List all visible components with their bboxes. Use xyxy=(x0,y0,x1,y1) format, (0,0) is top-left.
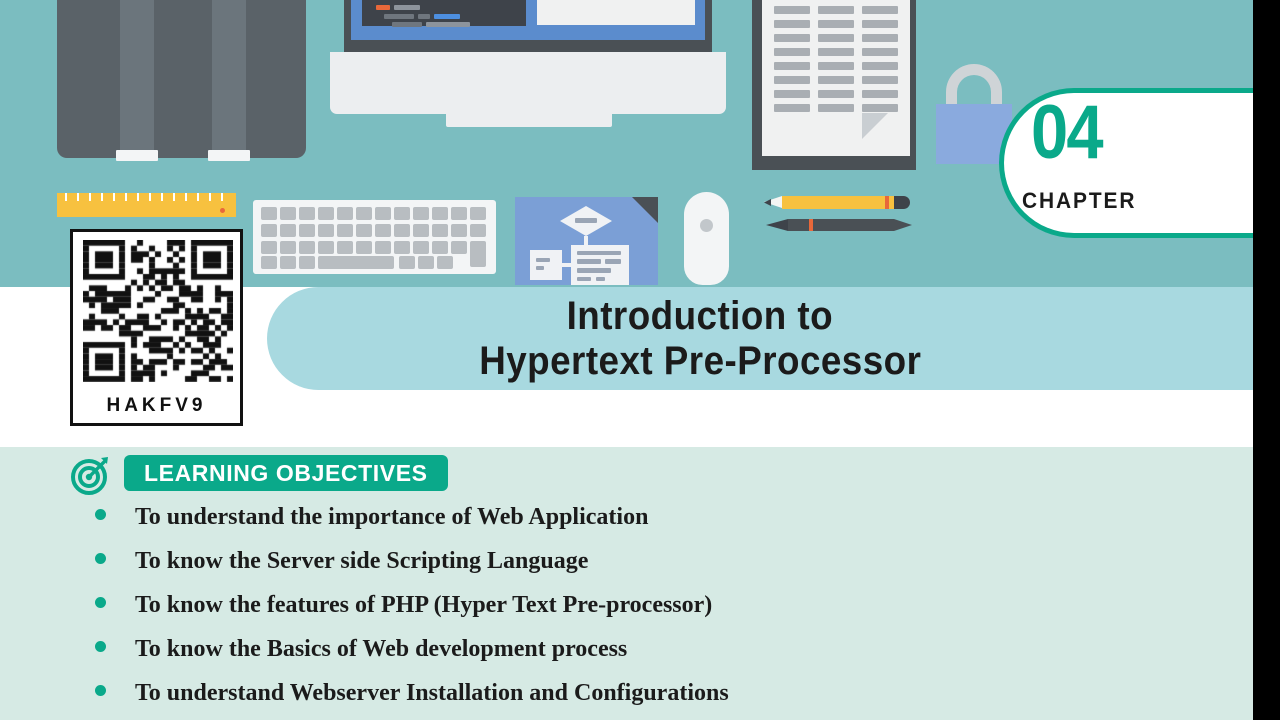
list-item-text: To understand Webserver Installation and… xyxy=(135,681,729,705)
bullet-icon xyxy=(95,509,106,520)
keyboard-icon xyxy=(253,200,496,274)
bullet-icon xyxy=(95,553,106,564)
bullet-icon xyxy=(95,641,106,652)
list-item: To understand Webserver Installation and… xyxy=(95,681,1145,705)
list-item-text: To know the Basics of Web development pr… xyxy=(135,637,627,661)
list-item: To know the Server side Scripting Langua… xyxy=(95,549,1145,573)
learning-objectives-heading-text: LEARNING OBJECTIVES xyxy=(144,460,428,487)
list-item-text: To know the Server side Scripting Langua… xyxy=(135,549,588,573)
ruler-icon xyxy=(57,193,236,217)
page-title-line2: Hypertext Pre-Processor xyxy=(479,339,921,384)
bullet-icon xyxy=(95,597,106,608)
qr-code-icon xyxy=(83,240,233,382)
qr-code-box[interactable]: HAKFV9 xyxy=(70,229,243,426)
target-icon xyxy=(70,454,112,496)
learning-objectives-heading: LEARNING OBJECTIVES xyxy=(124,455,448,491)
slide-page: 04 CHAPTER HAKFV9 Introduction to Hypert… xyxy=(0,0,1280,720)
list-item: To know the features of PHP (Hyper Text … xyxy=(95,593,1145,617)
page-title-line1: Introduction to xyxy=(567,294,833,339)
bullet-icon xyxy=(95,685,106,696)
slide-content: 04 CHAPTER HAKFV9 Introduction to Hypert… xyxy=(0,0,1253,720)
list-item: To know the Basics of Web development pr… xyxy=(95,637,1145,661)
chapter-title-banner: Introduction to Hypertext Pre-Processor xyxy=(267,287,1253,390)
qr-code-label: HAKFV9 xyxy=(73,395,240,417)
list-item: To understand the importance of Web Appl… xyxy=(95,505,1145,529)
chapter-label: CHAPTER xyxy=(1022,188,1136,214)
chapter-number: 04 xyxy=(1031,95,1102,171)
learning-objectives-list: To understand the importance of Web Appl… xyxy=(95,505,1145,720)
learning-objectives-section: LEARNING OBJECTIVES To understand the im… xyxy=(0,447,1253,720)
list-item-text: To know the features of PHP (Hyper Text … xyxy=(135,593,712,617)
list-item-text: To understand the importance of Web Appl… xyxy=(135,505,648,529)
